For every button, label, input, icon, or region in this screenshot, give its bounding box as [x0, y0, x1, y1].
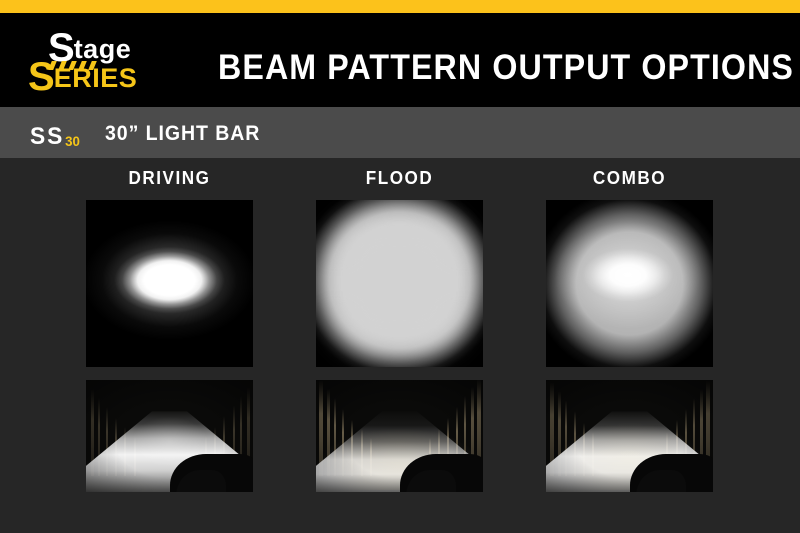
product-label: 30” LIGHT BAR: [105, 122, 260, 146]
column-driving: DRIVING: [86, 168, 253, 492]
flood-beam-core: [334, 218, 464, 348]
driving-beam-pattern: [86, 200, 253, 367]
column-title-combo: COMBO: [550, 168, 709, 189]
column-combo: COMBO: [546, 168, 713, 492]
top-accent-bar: [0, 0, 800, 13]
beam-pattern-comparison-page: Stage SERIES BEAM PATTERN OUTPUT OPTIONS…: [0, 0, 800, 533]
combo-beam-pattern: [546, 200, 713, 367]
column-title-flood: FLOOD: [320, 168, 479, 189]
combo-beam-hotspot: [546, 200, 713, 367]
logo-series-initial: S: [28, 55, 54, 99]
driving-road-photo: [86, 380, 253, 492]
driving-beam-glow: [86, 200, 253, 367]
page-title: BEAM PATTERN OUTPUT OPTIONS: [218, 48, 794, 88]
combo-road-photo: [546, 380, 713, 492]
logo-series-text: SERIES: [28, 57, 137, 97]
column-flood: FLOOD: [316, 168, 483, 492]
flood-road-photo: [316, 380, 483, 492]
model-badge-name: SS: [30, 123, 64, 150]
column-title-driving: DRIVING: [90, 168, 249, 189]
logo-series-rest: ERIES: [54, 63, 138, 93]
model-badge-subscript: 30: [65, 133, 80, 149]
stage-series-logo: Stage SERIES: [22, 24, 172, 98]
flood-beam-pattern: [316, 200, 483, 367]
model-badge: SS30: [30, 123, 80, 151]
